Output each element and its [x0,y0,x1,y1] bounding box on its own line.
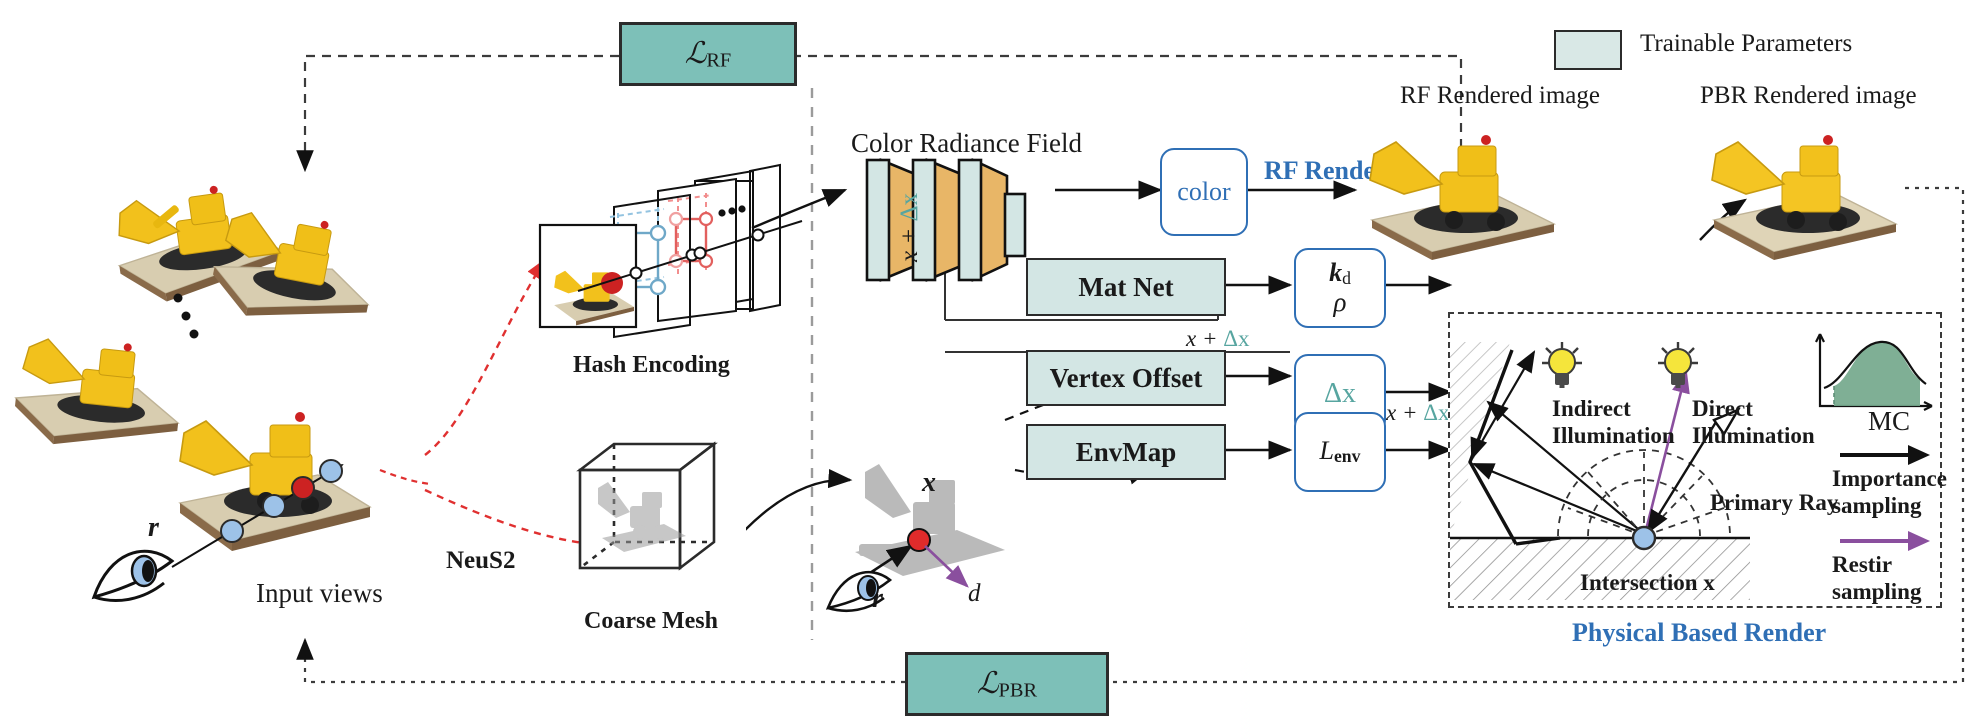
indirect-line2: Illumination [1552,423,1675,450]
restir-line1: Restir [1832,552,1921,579]
vertex-offset-box[interactable]: Vertex Offset [1026,350,1226,406]
eye-icon [88,535,198,615]
indirect-illumination-label: Indirect Illumination [1552,396,1675,449]
mat-net-box[interactable]: Mat Net [1026,258,1226,316]
eye-icon-mesh [824,560,910,622]
importance-sampling-arrow [1838,442,1958,468]
delta-x-output-label: Δx [1324,378,1356,410]
coarse-mesh-cube [568,420,788,620]
color-output-box: color [1160,148,1248,236]
direct-illumination-label: Direct Illumination [1692,396,1815,449]
loss-rf-box: ℒRF [619,22,797,86]
mesh-x-label: x [922,467,936,499]
intersection-label: Intersection x [1580,570,1715,596]
diagram-canvas: Trainable Parameters ℒRF ℒPBR [0,0,1982,722]
importance-sampling-label: Importance sampling [1832,466,1947,519]
x-plus-label-c: x + [1386,400,1423,425]
direct-line2: Illumination [1692,423,1815,450]
coarse-mesh-label: Coarse Mesh [584,608,718,635]
envmap-label: EnvMap [1076,437,1177,468]
pbr-rendered-image [1700,128,1940,258]
rf-rendered-caption: RF Rendered image [1400,82,1600,110]
l-env-box: Lenv [1294,412,1386,492]
direct-line1: Direct [1692,396,1815,423]
kd-rho-box: kd ρ [1294,248,1386,328]
lego-photo-main [180,412,370,551]
x-plus-dx-vertical: x + Δx [896,172,924,262]
delta-x-label-a: Δx [896,193,923,222]
loss-pbr-box: ℒPBR [905,652,1109,716]
color-output-label: color [1177,177,1230,207]
hash-encoding-label: Hash Encoding [573,352,730,379]
x-plus-label-b: x + [1186,326,1223,351]
x-plus-dx-pbr: x + Δx [1386,400,1450,426]
mc-label: MC [1868,406,1910,437]
x-plus-dx-matnet: x + Δx [1186,326,1250,352]
restir-sampling-label: Restir sampling [1832,552,1921,605]
pbr-rendered-caption: PBR Rendered image [1700,82,1917,110]
legend-label: Trainable Parameters [1640,30,1852,58]
delta-x-label-c: Δx [1423,400,1449,425]
neus2-label: NeuS2 [446,547,515,575]
delta-x-label-b: Δx [1223,326,1249,351]
hash-encoding-planes [540,125,840,325]
rho-label: ρ [1334,288,1347,316]
radiance-field-title: Color Radiance Field [851,128,1082,159]
x-plus-label-a: x + [896,228,923,262]
kd-label: kd [1329,259,1351,288]
primary-ray-label: Primary Ray [1710,490,1838,516]
lego-photo [207,202,383,338]
loss-rf-symbol: ℒRF [685,36,732,73]
legend-swatch [1554,30,1622,70]
rf-rendered-image [1358,128,1598,258]
indirect-line1: Indirect [1552,396,1675,423]
importance-line2: sampling [1832,493,1947,520]
ray-label-left: r [148,512,159,544]
vertex-offset-label: Vertex Offset [1050,363,1203,394]
mat-net-label: Mat Net [1078,272,1173,303]
importance-line1: Importance [1832,466,1947,493]
mesh-d-label: d [968,580,981,608]
l-env-label: Lenv [1320,436,1361,467]
input-views-label: Input views [256,578,383,609]
restir-line2: sampling [1832,579,1921,606]
pbr-panel-title: Physical Based Render [1572,618,1826,648]
restir-sampling-arrow [1838,528,1958,554]
loss-pbr-symbol: ℒPBR [977,666,1037,703]
